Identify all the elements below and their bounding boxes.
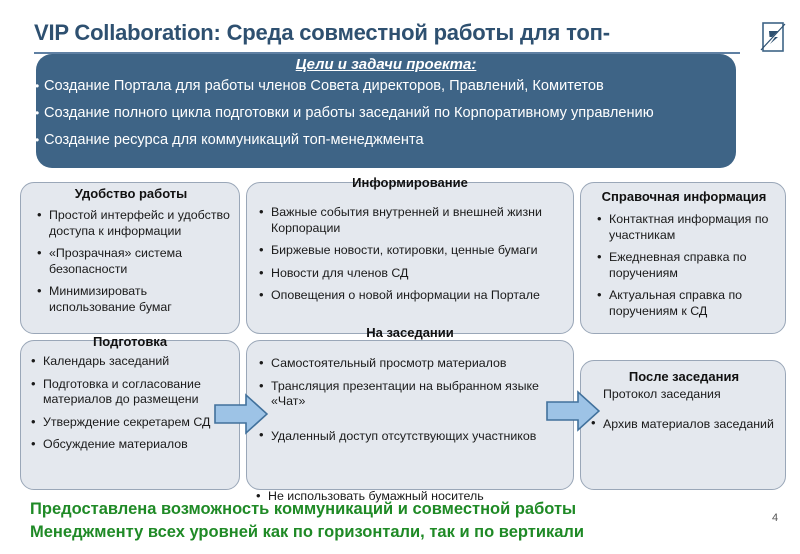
goals-banner-bullets: Создание Портала для работы членов Совет…	[36, 76, 736, 157]
card-meeting-title: На заседании	[246, 325, 574, 340]
arrow-preparation-to-meeting-icon	[214, 393, 268, 435]
list-item: Простой интерфейс и удобство доступа к и…	[35, 208, 231, 239]
list-item: Новости для членов СД	[257, 266, 569, 282]
list-item: Ежедневная справка по поручениям	[595, 250, 779, 281]
card-reference-bullets: Контактная информация по участникам Ежед…	[595, 212, 779, 326]
card-after: После заседания Протокол заседания Архив…	[580, 360, 786, 490]
goals-bullet: Создание полного цикла подготовки и рабо…	[36, 103, 736, 130]
card-reference: Справочная информация Контактная информа…	[580, 182, 786, 334]
goals-bullet: Создание Портала для работы членов Совет…	[36, 76, 736, 103]
list-item: Удаленный доступ отсутствующих участнико…	[257, 424, 567, 448]
list-item: Архив материалов заседаний	[589, 412, 779, 436]
card-convenience-title: Удобство работы	[21, 186, 241, 201]
list-item: «Прозрачная» система безопасности	[35, 246, 231, 277]
card-meeting: Самостоятельный просмотр материалов Тран…	[246, 340, 574, 490]
list-item: Оповещения о новой информации на Портале	[257, 288, 569, 304]
card-preparation-bullets: Календарь заседаний Подготовка и согласо…	[29, 354, 237, 460]
card-preparation: Календарь заседаний Подготовка и согласо…	[20, 340, 240, 490]
footer-line-1: Предоставлена возможность коммуникаций и…	[30, 498, 730, 521]
page-title-latin: VIP Collaboration:	[34, 20, 227, 45]
list-item: Минимизировать использование бумаг	[35, 284, 231, 315]
footer-line-2: Менеджменту всех уровней как по горизонт…	[30, 521, 730, 544]
arrow-meeting-to-after-icon	[546, 390, 600, 432]
list-item: Актуальная справка по поручениям к СД	[595, 288, 779, 319]
card-convenience: Удобство работы Простой интерфейс и удоб…	[20, 182, 240, 334]
list-item: Контактная информация по участникам	[595, 212, 779, 243]
slide-canvas: VIP Collaboration: Среда совместной рабо…	[0, 0, 800, 554]
card-reference-title: Справочная информация	[581, 189, 787, 204]
card-informing: Важные события внутренней и внешней жизн…	[246, 182, 574, 334]
company-logo-icon	[760, 22, 786, 52]
card-after-bullets: Протокол заседания Архив материалов засе…	[589, 387, 779, 443]
goals-bullet: Создание ресурса для коммуникаций топ-ме…	[36, 130, 736, 157]
page-title-cyrillic: Среда совместной работы для топ-	[227, 20, 610, 45]
list-item: Самостоятельный просмотр материалов	[257, 356, 567, 372]
list-item: Календарь заседаний	[29, 354, 237, 370]
card-preparation-title: Подготовка	[20, 334, 240, 349]
card-informing-bullets: Важные события внутренней и внешней жизн…	[257, 205, 569, 311]
card-meeting-bullets: Самостоятельный просмотр материалов Тран…	[257, 356, 567, 455]
list-item: Важные события внутренней и внешней жизн…	[257, 205, 569, 236]
list-item: Биржевые новости, котировки, ценные бума…	[257, 243, 569, 259]
list-item: Трансляция презентации на выбранном язык…	[257, 379, 567, 410]
list-item: Протокол заседания	[589, 387, 779, 403]
card-informing-title: Информирование	[246, 175, 574, 190]
page-number: 4	[772, 512, 778, 524]
footer-summary: Предоставлена возможность коммуникаций и…	[30, 498, 730, 544]
list-item: Утверждение секретарем СД	[29, 415, 237, 431]
list-item: Подготовка и согласование материалов до …	[29, 377, 237, 408]
card-convenience-bullets: Простой интерфейс и удобство доступа к и…	[35, 208, 231, 322]
page-title: VIP Collaboration: Среда совместной рабо…	[34, 20, 734, 46]
card-after-title: После заседания	[581, 369, 787, 384]
list-item: Обсуждение материалов	[29, 437, 237, 453]
goals-banner: Цели и задачи проекта: Создание Портала …	[36, 54, 736, 168]
goals-banner-title: Цели и задачи проекта:	[36, 56, 736, 73]
